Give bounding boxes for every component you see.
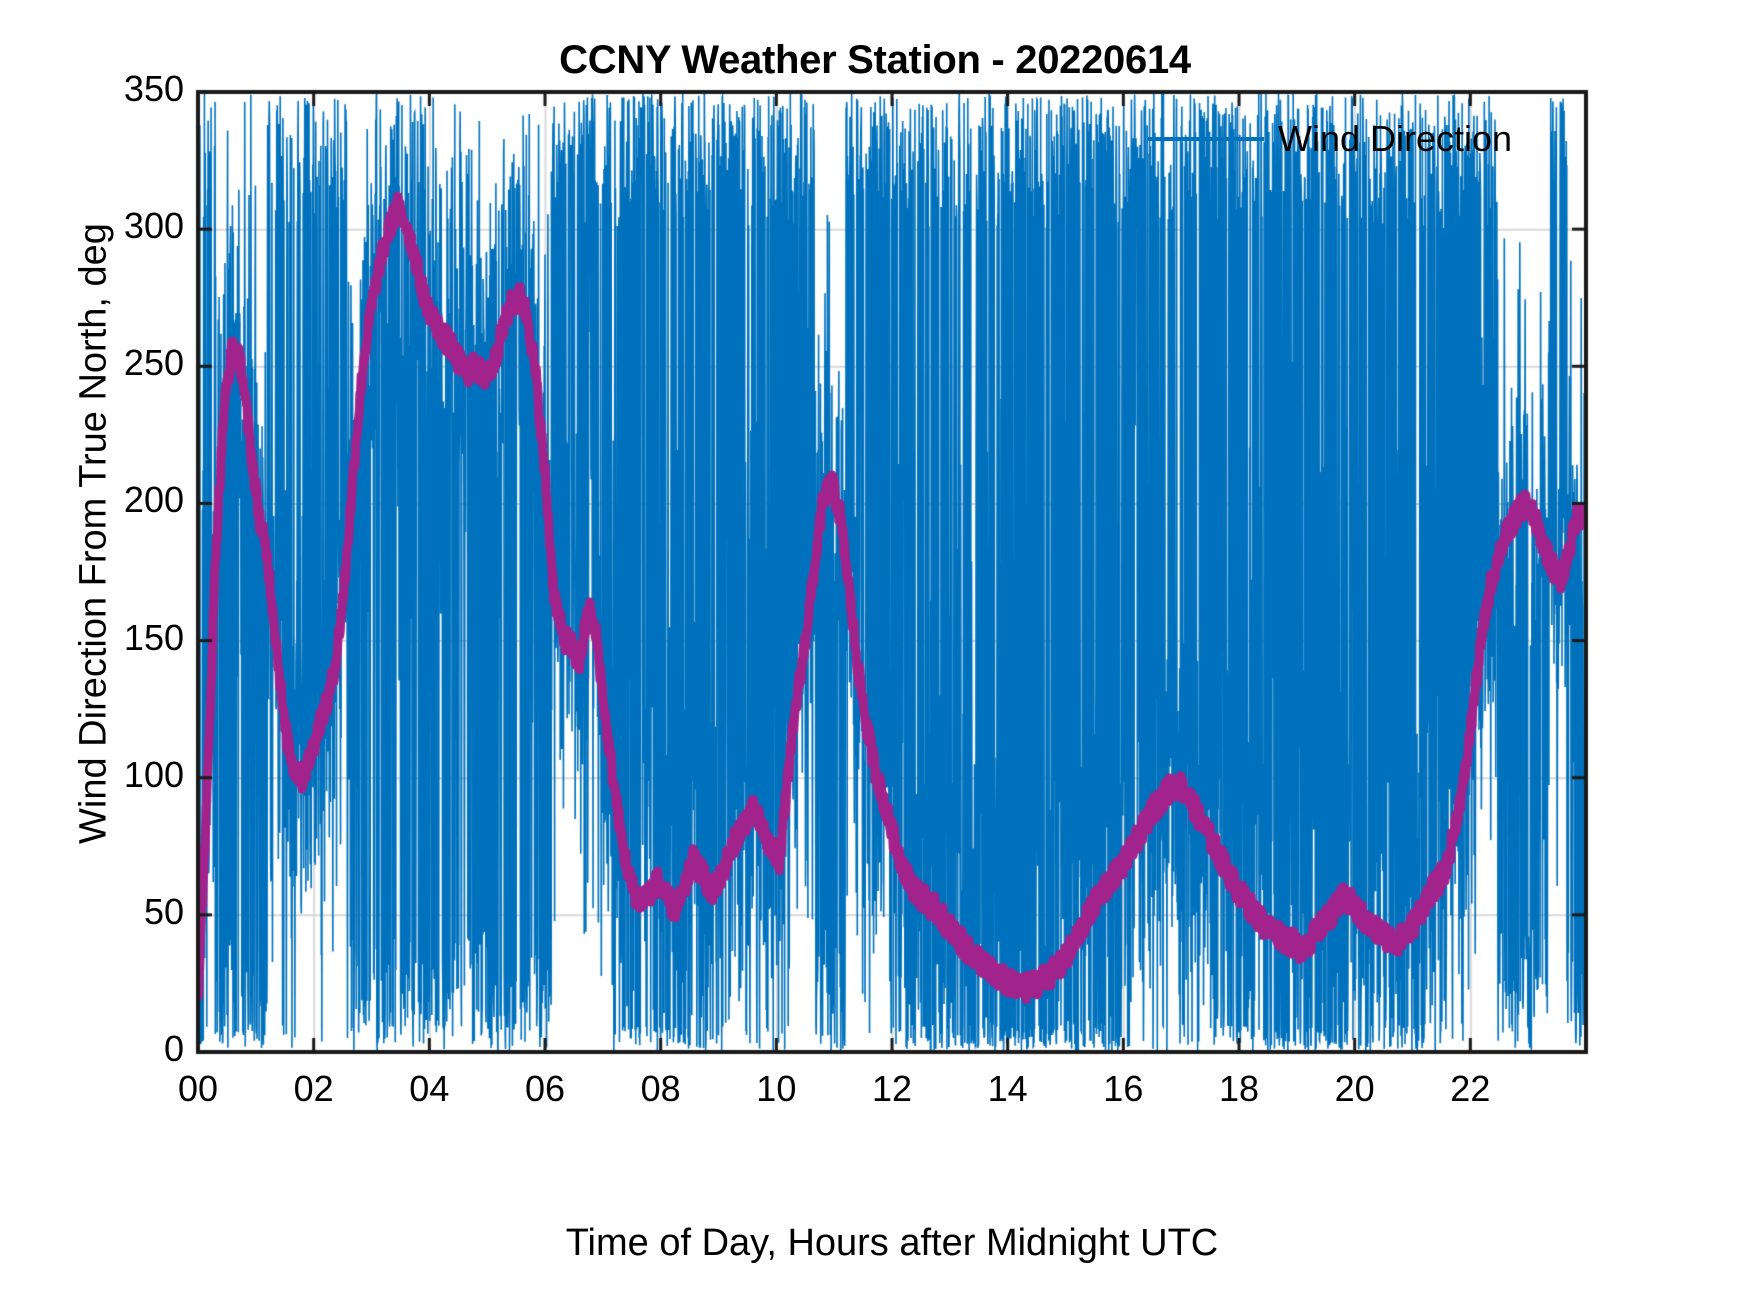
- x-tick-14: 14: [948, 1068, 1068, 1110]
- y-tick-100: 100: [124, 754, 184, 796]
- x-tick-00: 00: [138, 1068, 258, 1110]
- chart-legend: Wind Direction: [1148, 118, 1512, 160]
- x-tick-08: 08: [601, 1068, 721, 1110]
- y-tick-250: 250: [124, 342, 184, 384]
- y-tick-200: 200: [124, 479, 184, 521]
- x-tick-18: 18: [1179, 1068, 1299, 1110]
- y-tick-50: 50: [144, 891, 184, 933]
- x-tick-12: 12: [832, 1068, 952, 1110]
- x-tick-06: 06: [485, 1068, 605, 1110]
- x-tick-20: 20: [1295, 1068, 1415, 1110]
- y-axis-label: Wind Direction From True North, deg: [73, 134, 116, 934]
- x-axis-label: Time of Day, Hours after Midnight UTC: [198, 1222, 1586, 1265]
- x-tick-04: 04: [369, 1068, 489, 1110]
- y-tick-300: 300: [124, 205, 184, 247]
- y-tick-0: 0: [164, 1028, 184, 1070]
- legend-label-wind-direction: Wind Direction: [1278, 118, 1512, 160]
- x-tick-10: 10: [716, 1068, 836, 1110]
- x-tick-16: 16: [1063, 1068, 1183, 1110]
- x-tick-02: 02: [254, 1068, 374, 1110]
- y-tick-150: 150: [124, 617, 184, 659]
- legend-line-swatch: [1148, 137, 1264, 141]
- plot-area: [0, 0, 1750, 1313]
- x-tick-22: 22: [1410, 1068, 1530, 1110]
- chart-figure: CCNY Weather Station - 20220614 Wind Dir…: [0, 0, 1750, 1313]
- y-tick-350: 350: [124, 68, 184, 110]
